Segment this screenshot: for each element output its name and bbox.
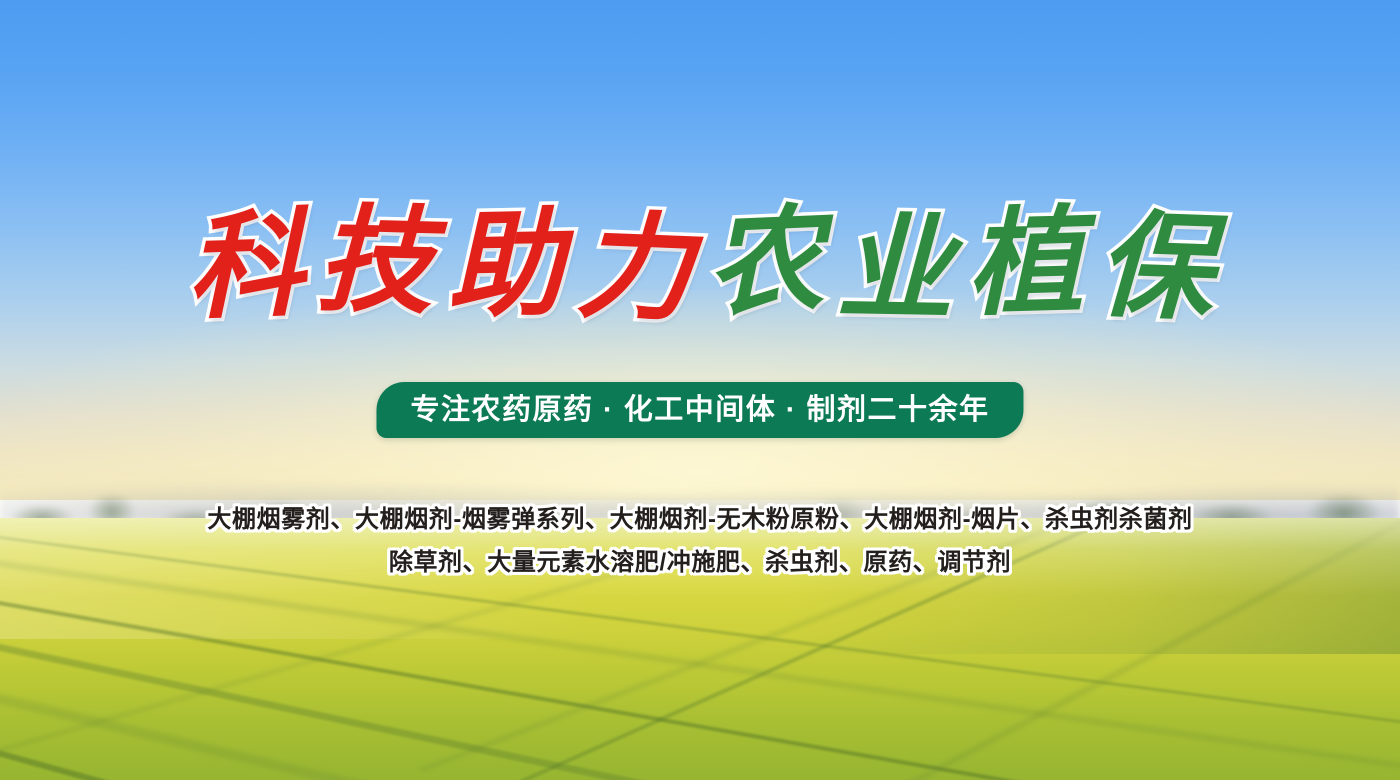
- field-furrow-cross: [519, 518, 1400, 780]
- crop-field: [0, 518, 1400, 780]
- subtitle-text: 专注农药原药 · 化工中间体 · 制剂二十余年: [410, 396, 989, 425]
- field-furrow-cross: [0, 545, 711, 758]
- field-furrow: [0, 528, 1400, 727]
- field-furrow-cross: [899, 518, 1400, 780]
- field-shadow: [784, 518, 1400, 654]
- promo-banner: 科技助力农业植保 专注农药原药 · 化工中间体 · 制剂二十余年 大棚烟雾剂、大…: [0, 0, 1400, 780]
- field-furrow-cross: [419, 518, 1400, 773]
- field-warm-light: [0, 518, 588, 639]
- field-furrow: [0, 580, 1400, 780]
- field-furrow: [0, 552, 1400, 775]
- field-furrow: [0, 684, 1400, 780]
- subtitle-banner: 专注农药原药 · 化工中间体 · 制剂二十余年: [376, 382, 1023, 438]
- field-furrow: [0, 724, 1400, 780]
- field-furrow: [0, 646, 1400, 780]
- field-furrow: [0, 610, 1400, 780]
